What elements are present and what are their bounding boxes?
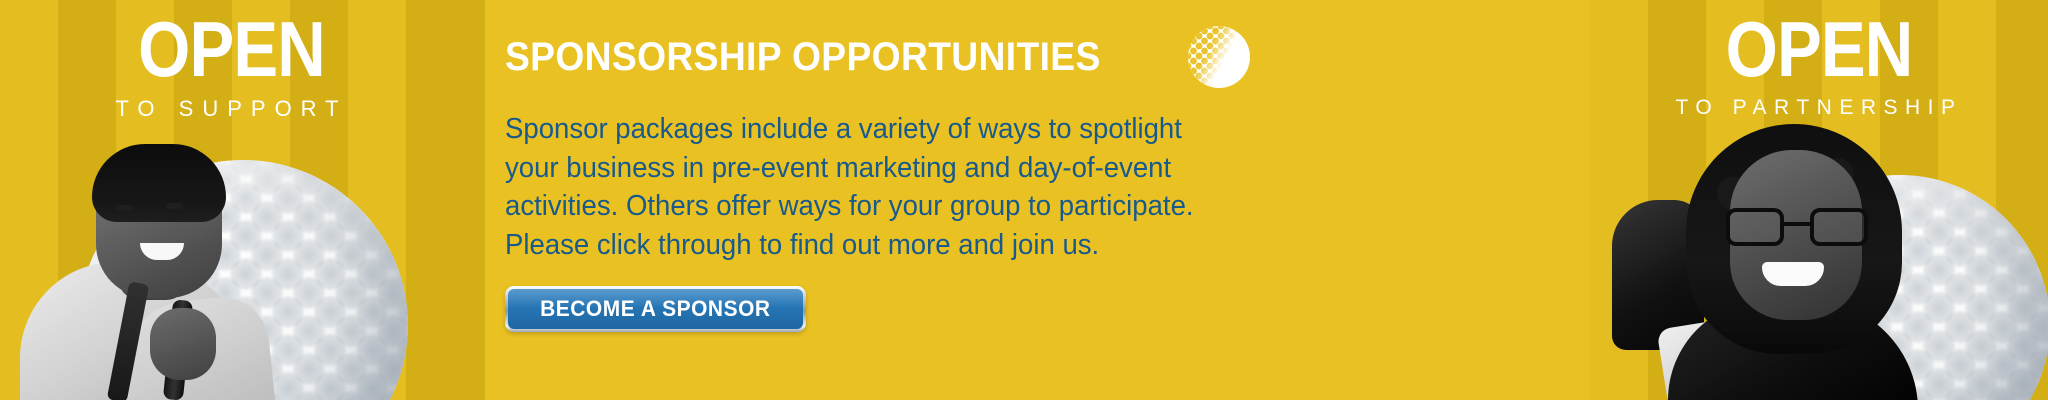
left-panel-open-to-support: OPEN TO SUPPORT: [0, 0, 463, 400]
cta-wrapper: BECOME A SPONSOR: [505, 286, 1590, 332]
photo-hands: [150, 308, 216, 380]
right-panel-open-to-partnership: OPEN TO PARTNERSHIP: [1590, 0, 2048, 400]
body-line: your business in pre-event marketing and…: [505, 149, 1365, 188]
photo-eye-left: [116, 205, 133, 211]
sponsorship-banner: OPEN TO SUPPORT SPONSORSHIP OPPORTUNITIE…: [0, 0, 2048, 400]
center-body-text: Sponsor packages include a variety of wa…: [505, 110, 1365, 264]
photo-smile: [1762, 262, 1824, 286]
body-line: activities. Others offer ways for your g…: [505, 187, 1365, 226]
photo-glasses-bridge: [1784, 222, 1810, 226]
panel-divider-left: [463, 0, 485, 400]
center-panel-sponsorship: SPONSORSHIP OPPORTUNITIES Sponsor packag…: [463, 0, 1590, 400]
photo-glasses-lens-right: [1810, 208, 1868, 246]
page-title: SPONSORSHIP OPPORTUNITIES: [505, 35, 1101, 80]
center-heading-row: SPONSORSHIP OPPORTUNITIES: [505, 26, 1590, 88]
body-line: Sponsor packages include a variety of wa…: [505, 110, 1365, 149]
photo-glasses: [1726, 208, 1868, 246]
become-a-sponsor-label: BECOME A SPONSOR: [540, 296, 771, 322]
center-content: SPONSORSHIP OPPORTUNITIES Sponsor packag…: [463, 26, 1590, 332]
photo-hair: [92, 144, 226, 222]
photo-glasses-lens-left: [1726, 208, 1784, 246]
photo-eye-right: [166, 203, 183, 209]
body-line: Please click through to find out more an…: [505, 226, 1365, 265]
become-a-sponsor-button[interactable]: BECOME A SPONSOR: [505, 286, 806, 332]
golf-ball-icon: [1188, 26, 1250, 88]
